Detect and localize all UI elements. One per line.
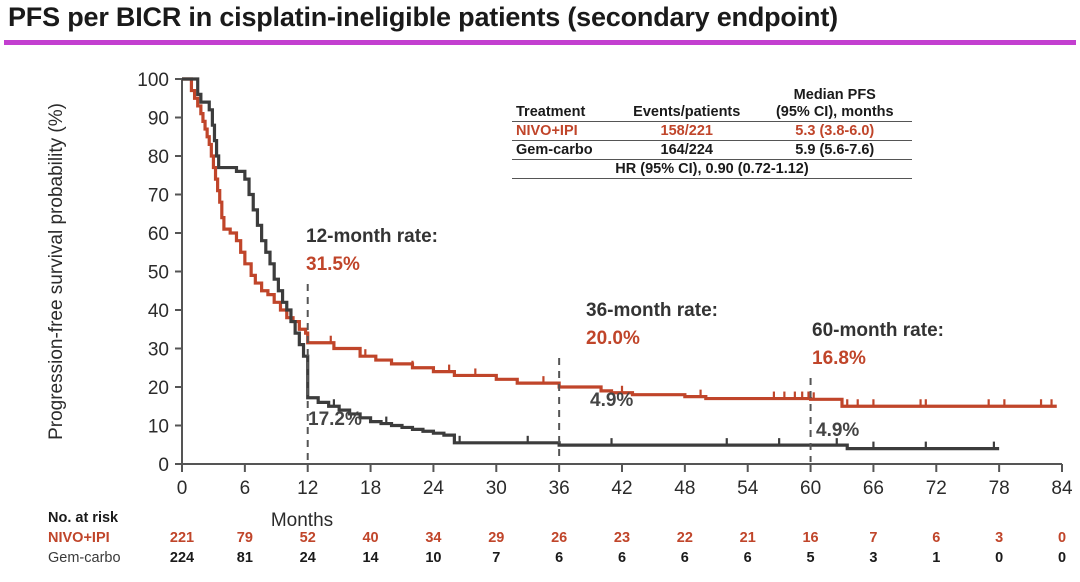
risk-value: 10: [413, 550, 453, 566]
legend-header-median-line1: Median PFS: [794, 87, 876, 103]
x-tick-label: 48: [674, 478, 695, 499]
y-tick-label: 50: [148, 263, 169, 284]
x-tick-label: 84: [1051, 478, 1073, 499]
y-tick-label: 10: [148, 417, 169, 438]
x-tick-label: 24: [423, 478, 445, 499]
x-tick-label: 72: [926, 478, 947, 499]
legend-header-treatment: Treatment: [512, 86, 616, 122]
risk-row-label-nivo-ipi: NIVO+IPI: [48, 530, 110, 546]
risk-value: 40: [351, 530, 391, 546]
risk-value: 0: [1042, 550, 1080, 566]
risk-value: 26: [539, 530, 579, 546]
risk-value: 21: [728, 530, 768, 546]
hazard-ratio-text: HR (95% CI), 0.90 (0.72-1.12): [512, 160, 912, 179]
y-tick-label: 0: [158, 455, 169, 476]
legend-events-gem-carbo: 164/224: [616, 141, 758, 160]
risk-value: 52: [288, 530, 328, 546]
legend-median-nivo-ipi: 5.3 (3.8-6.0): [758, 122, 912, 141]
risk-value: 5: [791, 550, 831, 566]
x-tick-label: 54: [737, 478, 759, 499]
rate-annotation-nivo-ipi: 20.0%: [586, 328, 640, 349]
risk-value: 6: [916, 530, 956, 546]
y-tick-label: 30: [148, 340, 169, 361]
rate-annotation-nivo-ipi: 31.5%: [306, 254, 360, 275]
x-tick-label: 60: [800, 478, 821, 499]
legend-row-gem-carbo: Gem-carbo 164/224 5.9 (5.6-7.6): [512, 141, 912, 160]
y-tick-label: 60: [148, 224, 169, 245]
rate-annotation-gem-carbo: 4.9%: [816, 420, 859, 441]
x-tick-label: 36: [549, 478, 570, 499]
y-tick-label: 20: [148, 378, 169, 399]
risk-value: 3: [979, 530, 1019, 546]
y-tick-label: 80: [148, 147, 169, 168]
risk-value: 221: [162, 530, 202, 546]
legend-treatment-gem-carbo: Gem-carbo: [512, 141, 616, 160]
legend-header-median: Median PFS (95% CI), months: [758, 86, 912, 122]
x-tick-label: 66: [863, 478, 884, 499]
x-tick-label: 18: [360, 478, 381, 499]
x-tick-label: 30: [486, 478, 507, 499]
risk-value: 3: [853, 550, 893, 566]
y-axis-title: Progression-free survival probability (%…: [46, 103, 67, 440]
risk-value: 224: [162, 550, 202, 566]
risk-value: 6: [728, 550, 768, 566]
legend-events-nivo-ipi: 158/221: [616, 122, 758, 141]
y-tick-label: 40: [148, 301, 169, 322]
x-tick-label: 78: [989, 478, 1010, 499]
rate-annotation-heading: 12-month rate:: [306, 226, 438, 247]
risk-table-title: No. at risk: [48, 510, 118, 526]
x-tick-label: 0: [177, 478, 188, 499]
rate-annotation-heading: 60-month rate:: [812, 320, 944, 341]
rate-annotation-gem-carbo: 4.9%: [590, 390, 633, 411]
risk-value: 6: [602, 550, 642, 566]
y-tick-label: 90: [148, 109, 169, 130]
legend-median-gem-carbo: 5.9 (5.6-7.6): [758, 141, 912, 160]
legend-header-events: Events/patients: [616, 86, 758, 122]
risk-value: 6: [539, 550, 579, 566]
title-underline-rule: [4, 40, 1076, 45]
x-tick-label: 6: [240, 478, 251, 499]
risk-value: 14: [351, 550, 391, 566]
y-tick-label: 70: [148, 186, 169, 207]
risk-value: 6: [665, 550, 705, 566]
x-tick-label: 42: [611, 478, 632, 499]
risk-value: 81: [225, 550, 265, 566]
risk-value: 22: [665, 530, 705, 546]
rate-annotation-nivo-ipi: 16.8%: [812, 348, 866, 369]
legend-treatment-nivo-ipi: NIVO+IPI: [512, 122, 616, 141]
risk-value: 24: [288, 550, 328, 566]
risk-value: 7: [476, 550, 516, 566]
page-title: PFS per BICR in cisplatin-ineligible pat…: [8, 2, 1072, 33]
rate-annotation-gem-carbo: 17.2%: [308, 409, 362, 430]
y-tick-label: 100: [137, 70, 169, 91]
legend-header-median-line2: (95% CI), months: [776, 104, 894, 120]
rate-annotation-heading: 36-month rate:: [586, 300, 718, 321]
legend-row-nivo-ipi: NIVO+IPI 158/221 5.3 (3.8-6.0): [512, 122, 912, 141]
risk-row-label-gem-carbo: Gem-carbo: [48, 550, 121, 566]
risk-value: 79: [225, 530, 265, 546]
risk-value: 0: [979, 550, 1019, 566]
risk-value: 7: [853, 530, 893, 546]
legend-row-hazard-ratio: HR (95% CI), 0.90 (0.72-1.12): [512, 160, 912, 179]
summary-legend-table: Treatment Events/patients Median PFS (95…: [512, 86, 912, 179]
x-tick-label: 12: [297, 478, 318, 499]
risk-value: 34: [413, 530, 453, 546]
risk-value: 29: [476, 530, 516, 546]
x-axis-title: Months: [271, 510, 333, 531]
risk-value: 23: [602, 530, 642, 546]
risk-value: 0: [1042, 530, 1080, 546]
risk-value: 16: [791, 530, 831, 546]
risk-value: 1: [916, 550, 956, 566]
